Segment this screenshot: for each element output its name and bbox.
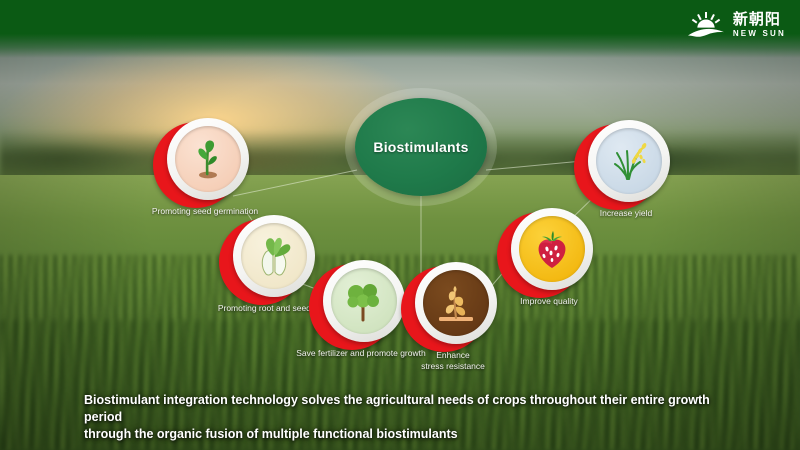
node-label: Improve quality <box>454 296 644 307</box>
background-vignette <box>0 0 800 450</box>
footer-caption-line2: through the organic fusion of multiple f… <box>84 426 744 443</box>
slide-canvas: 新朝阳 NEW SUN Biostimulants <box>0 0 800 450</box>
brand-name-en: NEW SUN <box>733 30 786 38</box>
sunrise-over-field-icon <box>686 10 726 40</box>
node-seed-germination[interactable]: Promoting seed germination <box>162 118 248 204</box>
node-disc <box>596 128 662 194</box>
node-disc <box>241 223 307 289</box>
node-save-fertilizer[interactable]: Save fertilizer and promote growth <box>318 260 404 346</box>
seedling-sprout-icon <box>183 134 233 184</box>
footer-caption: Biostimulant integration technology solv… <box>84 392 744 443</box>
node-disc <box>175 126 241 192</box>
center-node-disc: Biostimulants <box>355 98 487 196</box>
header-bar <box>0 0 800 58</box>
node-disc <box>331 268 397 334</box>
bok-choy-icon <box>248 230 300 282</box>
center-node-label: Biostimulants <box>373 139 468 155</box>
strawberry-icon <box>527 224 577 274</box>
brand-logo: 新朝阳 NEW SUN <box>686 10 786 40</box>
footer-caption-line1: Biostimulant integration technology solv… <box>84 392 744 426</box>
center-node-biostimulants[interactable]: Biostimulants <box>345 88 497 206</box>
tree-icon <box>339 276 389 326</box>
node-label: Increase yield <box>531 208 721 219</box>
brand-name-cn: 新朝阳 <box>733 12 786 27</box>
node-increase-yield[interactable]: Increase yield <box>583 120 669 206</box>
node-improve-quality[interactable]: Improve quality <box>506 208 592 294</box>
node-root-and-seedling[interactable]: Promoting root and seedling <box>228 215 314 301</box>
rice-grain-plant-icon <box>603 135 655 187</box>
node-label: Enhance stress resistance <box>358 350 548 372</box>
node-disc <box>519 216 585 282</box>
